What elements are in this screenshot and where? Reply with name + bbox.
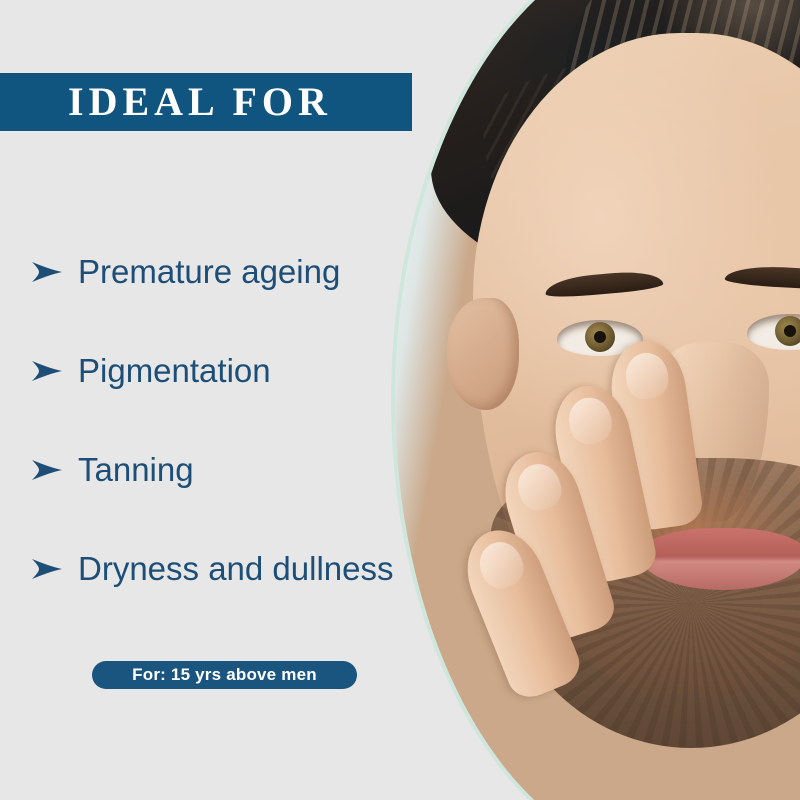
fingernail-shape — [623, 350, 671, 401]
benefit-list: Premature ageing Pigmentation Tanning — [30, 222, 460, 618]
list-item: Dryness and dullness — [30, 519, 460, 618]
list-item-label: Premature ageing — [78, 255, 340, 288]
fingernail-shape — [565, 394, 616, 448]
list-item-label: Dryness and dullness — [78, 552, 394, 585]
age-badge: For: 15 yrs above men — [92, 661, 357, 689]
arrow-right-icon — [30, 457, 64, 483]
page-title: IDEAL FOR — [0, 82, 332, 122]
header-banner: IDEAL FOR — [0, 73, 412, 131]
list-item: Tanning — [30, 420, 460, 519]
fingernail-shape — [473, 536, 529, 594]
list-item: Pigmentation — [30, 321, 460, 420]
iris-left-shape — [585, 322, 615, 352]
list-item-label: Tanning — [78, 453, 194, 486]
arrow-right-icon — [30, 358, 64, 384]
ideal-for-poster: IDEAL FOR Premature ageing Pigmentation — [0, 0, 800, 800]
list-item: Premature ageing — [30, 222, 460, 321]
list-item-label: Pigmentation — [78, 354, 271, 387]
arrow-right-icon — [30, 259, 64, 285]
fingernail-shape — [512, 459, 566, 515]
iris-right-shape — [775, 316, 800, 346]
arrow-right-icon — [30, 556, 64, 582]
